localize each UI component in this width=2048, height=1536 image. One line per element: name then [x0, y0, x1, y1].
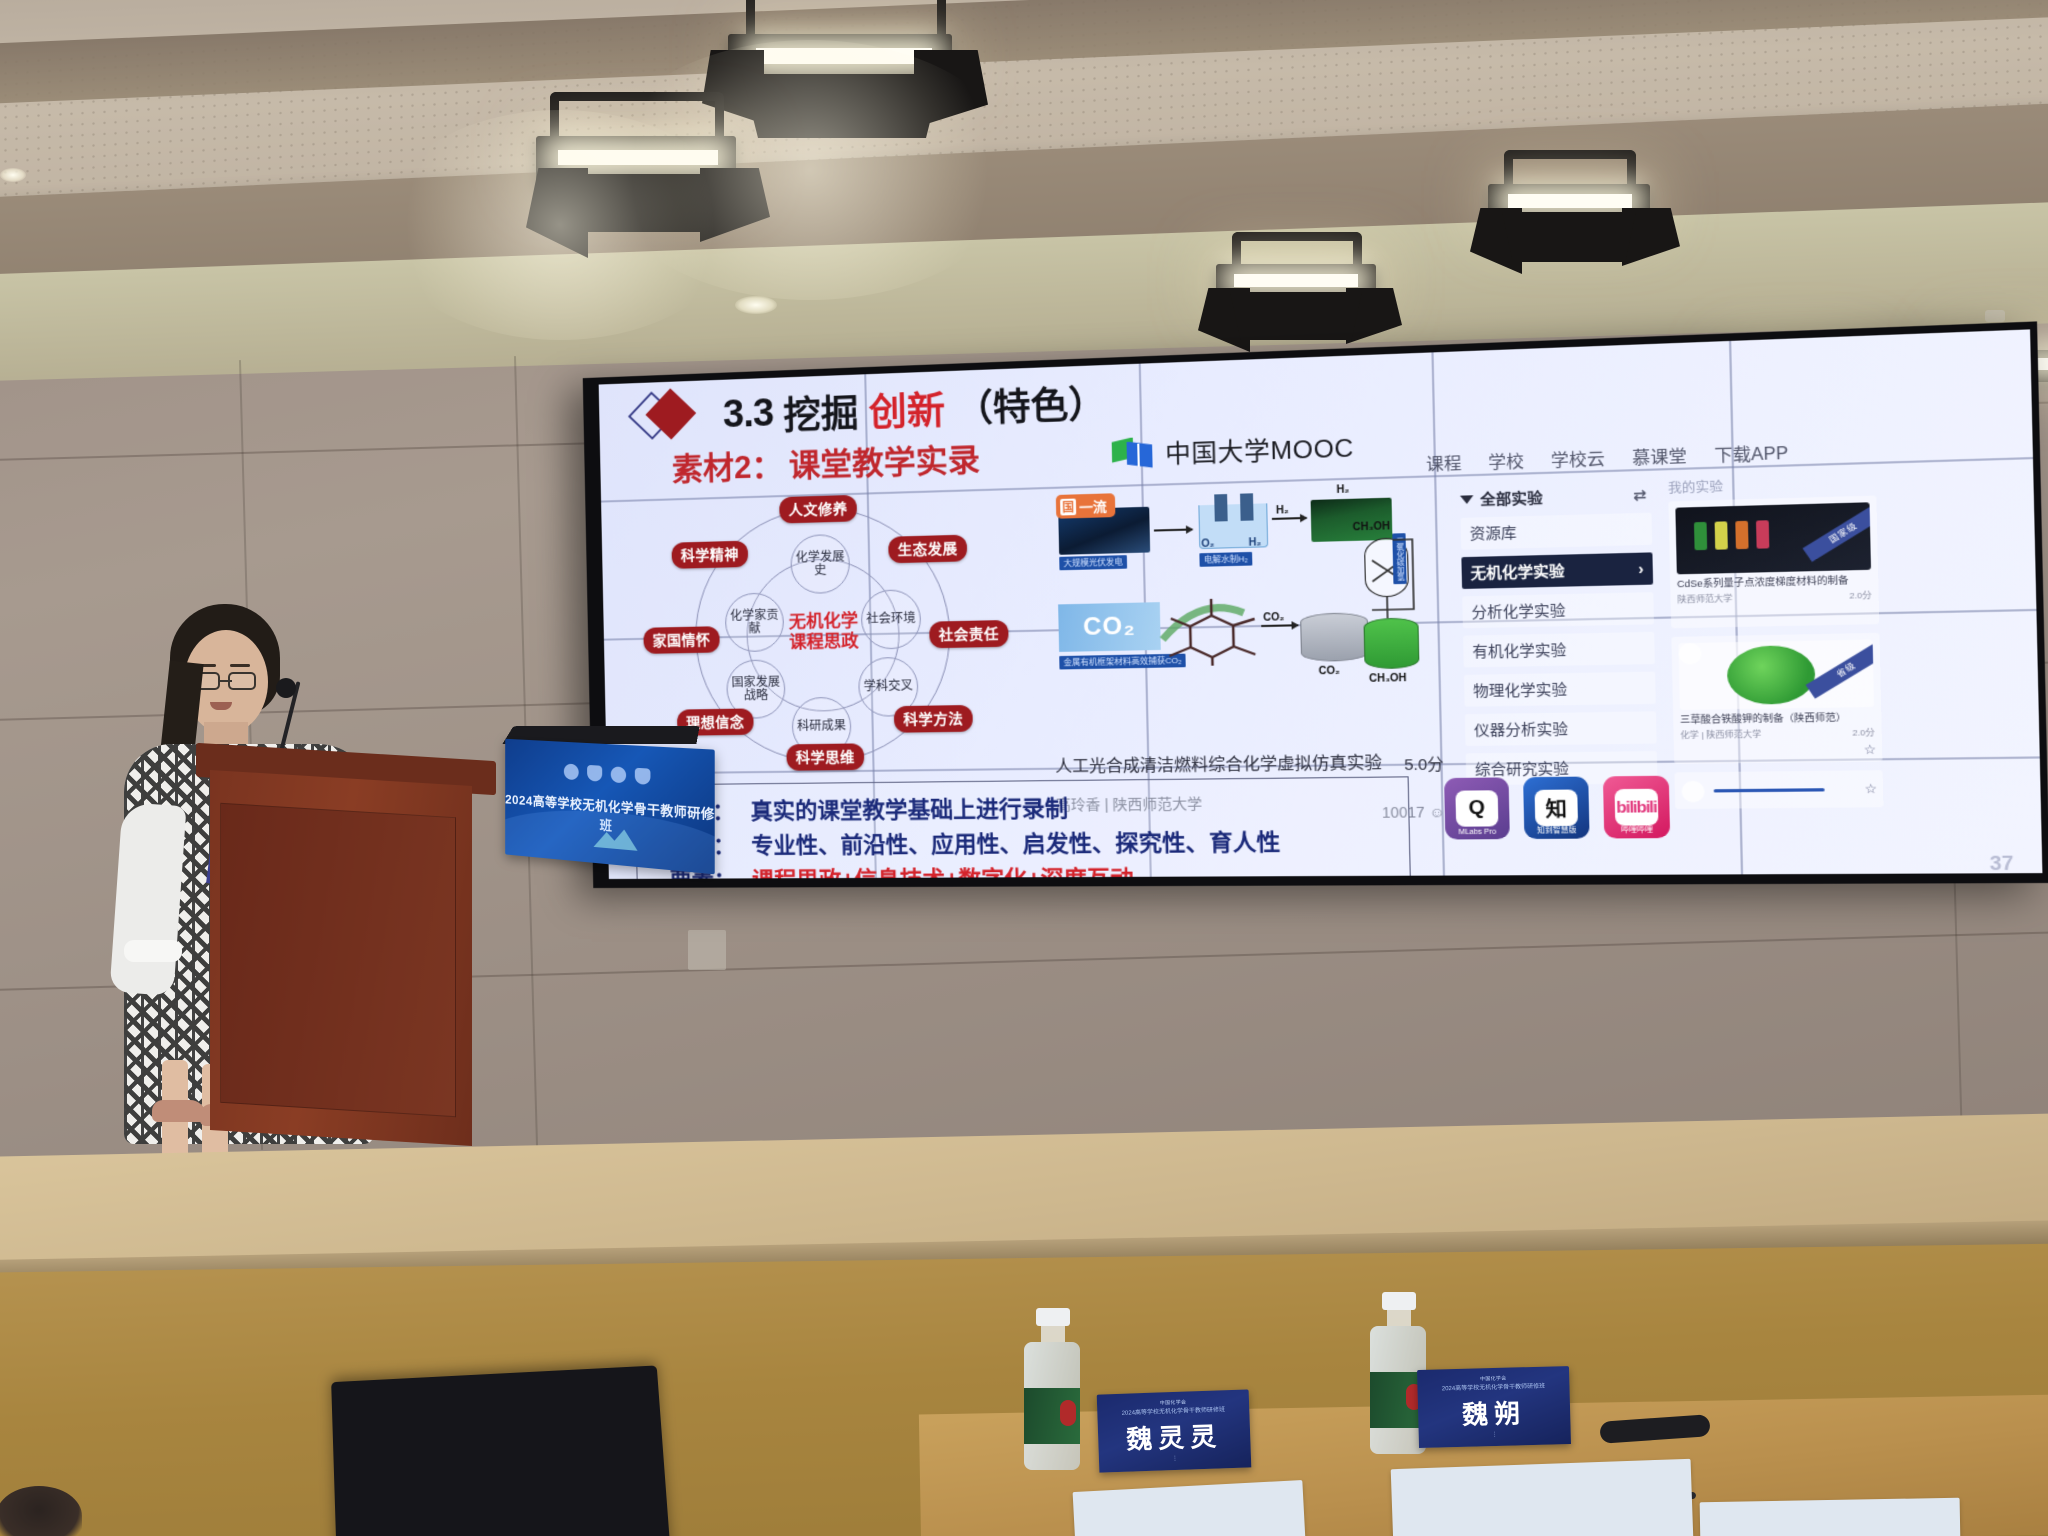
app-label: 哔哩哔哩 — [1604, 824, 1670, 835]
bottle-neck — [1041, 1326, 1065, 1342]
slide-subtitle-row: 素材2： 课堂教学实录 — [671, 434, 980, 490]
downlight — [735, 296, 777, 314]
bottle-cap — [1382, 1292, 1416, 1310]
podium-panel — [220, 803, 456, 1117]
bottle-cap — [1036, 1308, 1070, 1326]
sidebar-item-organic-chemistry[interactable]: 有机化学实验 — [1463, 632, 1655, 668]
mooc-nav-classroom[interactable]: 慕课堂 — [1632, 442, 1687, 469]
bottle-body — [1024, 1342, 1080, 1470]
flow-arrow — [1154, 528, 1192, 531]
card-thumbnail: 省级 — [1678, 640, 1874, 710]
label-o2: O₂ — [1201, 538, 1214, 550]
chevron-down-icon — [1460, 495, 1474, 504]
card-column-header: 我的实验 — [1668, 473, 1876, 497]
experiment-card[interactable]: 省级 三草酸合铁酸钾的制备（陕西师范） 化学 | 陕西师范大学 2.0分 ☆ — [1671, 633, 1882, 764]
mooc-nav-schools[interactable]: 学校 — [1488, 447, 1524, 474]
podium: 2024高等学校无机化学骨干教师研修班 — [196, 752, 496, 1152]
bullet-row: • 实录： 真实的课堂教学基础上进行录制 — [646, 787, 1398, 827]
sidebar-item-instrumental-analysis[interactable]: 仪器分析实验 — [1465, 711, 1657, 746]
app-icon-bilibili[interactable]: bilibili 哔哩哔哩 — [1603, 776, 1670, 839]
subtitle-label: 素材2： — [671, 440, 783, 489]
experiment-card[interactable]: ☆ — [1674, 770, 1883, 809]
experiment-sidebar-header-label: 全部实验 — [1480, 487, 1543, 510]
nameplate-name: 魏灵灵 — [1098, 1415, 1251, 1457]
experiment-card-column[interactable]: 我的实验 国家级 CdSe系列量子点浓度梯度材料的制备 — [1668, 473, 1884, 809]
favorite-star-icon[interactable]: ☆ — [1864, 781, 1877, 796]
pipe-lines — [1307, 512, 1420, 673]
slide-title-black: 挖掘 — [783, 383, 860, 441]
sidebar-item-resource-library[interactable]: 资源库 — [1461, 513, 1653, 550]
wall-plate — [688, 930, 726, 970]
magnifier-icon: Q — [1455, 790, 1498, 826]
app-icon-zhidao[interactable]: 知 知到智慧版 — [1523, 777, 1590, 839]
app-icon-mlabs-pro[interactable]: Q MLabs Pro — [1444, 777, 1510, 839]
label-h2: H₂ — [1249, 537, 1262, 549]
slide-title-tail: （特色） — [955, 374, 1107, 433]
video-wall[interactable]: 3.3 挖掘 创新 （特色） 素材2： 课堂教学实录 中国大学MOOC 课程 学… — [583, 321, 2048, 888]
outer-pill-method: 科学方法 — [894, 705, 973, 733]
paper-sheet — [1700, 1498, 1961, 1536]
bullet-row: • 要素： 课程思政+信息技术+数字化+深度互动 — [647, 859, 1399, 879]
light-glow — [380, 110, 740, 340]
sort-icon[interactable]: ⇄ — [1633, 486, 1647, 505]
card-title: CdSe系列量子点浓度梯度材料的制备 — [1677, 574, 1871, 590]
mooc-nav-courses[interactable]: 课程 — [1426, 449, 1462, 476]
chemistry-process-diagram: 国 一流 大规模光伏发电 O₂ H₂ 电解水制H₂ H₂ H₂ CO₂ — [1049, 482, 1410, 751]
bottle-label — [1024, 1388, 1080, 1444]
sleeve-cuff — [124, 940, 182, 962]
downlight — [0, 168, 26, 182]
experiment-card[interactable]: 国家级 CdSe系列量子点浓度梯度材料的制备 陕西师范大学 2.0分 — [1668, 496, 1879, 629]
bilibili-glyph-icon: bilibili — [1615, 789, 1659, 826]
nameplate: 中国化学会 2024高等学校无机化学骨干教师研修班 魏朔 ⋮ — [1417, 1366, 1571, 1448]
mof-molecule-icon — [1155, 589, 1275, 669]
school-logo-icon — [1681, 781, 1704, 803]
bullet-text: 专业性、前沿性、应用性、启发性、探究性、育人性 — [751, 824, 1281, 860]
mooc-brand-bar: 中国大学MOOC — [1112, 427, 1355, 471]
zhidao-glyph-icon: 知 — [1535, 789, 1579, 826]
presentation-slide: 3.3 挖掘 创新 （特色） 素材2： 课堂教学实录 中国大学MOOC 课程 学… — [599, 329, 2043, 879]
course-title: 人工光合成清洁燃料综合化学虚拟仿真实验 — [1055, 753, 1444, 778]
water-bottle[interactable] — [1024, 1308, 1082, 1470]
bottle-neck — [1387, 1310, 1411, 1326]
mooc-logo-icon — [1112, 436, 1155, 469]
sidebar-item-analytical-chemistry[interactable]: 分析化学实验 — [1462, 592, 1654, 628]
microphone-head — [276, 678, 296, 698]
card-ribbon: 省级 — [1806, 641, 1875, 699]
co2-image: CO₂ — [1058, 602, 1161, 652]
experiment-category-sidebar[interactable]: 全部实验 ⇄ 资源库 无机化学实验 › 分析化学实验 有机化学实验 物理化学实验… — [1460, 484, 1658, 786]
app-label: 知到智慧版 — [1524, 825, 1589, 836]
flow-arrow — [1272, 517, 1307, 520]
summary-bullets: • 实录： 真实的课堂教学基础上进行录制 • 教学： 专业性、前沿性、应用性、启… — [635, 776, 1412, 879]
card-meta: 陕西师范大学 2.0分 — [1677, 589, 1871, 605]
experiment-sidebar-header[interactable]: 全部实验 ⇄ — [1460, 484, 1651, 511]
organization-emblems — [505, 760, 715, 789]
caption-electrolysis: 电解水制H₂ — [1199, 552, 1252, 567]
bullet-row: • 教学： 专业性、前沿性、应用性、启发性、探究性、育人性 — [647, 823, 1399, 861]
favorite-star-icon[interactable]: ☆ — [1863, 742, 1876, 757]
foreground-laptop[interactable] — [331, 1365, 671, 1536]
ceiling-sensor — [1985, 310, 2005, 322]
bullet-text: 课程思政+信息技术+数字化+深度互动 — [752, 860, 1134, 879]
app-label: MLabs Pro — [1445, 828, 1510, 836]
subtitle-text: 课堂教学实录 — [788, 434, 980, 486]
outer-pill-patriotism: 家国情怀 — [643, 626, 719, 654]
nameplate: 中国化学会 2024高等学校无机化学骨干教师研修班 魏灵灵 ⋮ — [1097, 1389, 1252, 1472]
outer-pill-responsibility: 社会责任 — [929, 620, 1009, 648]
label-ch3oh: CH₃OH — [1369, 673, 1407, 685]
slide-title-red: 创新 — [868, 379, 945, 437]
arm — [109, 802, 186, 996]
outer-pill-thinking: 科学思维 — [786, 743, 864, 770]
paper-sheet — [1391, 1459, 1694, 1536]
lecture-hall-scene: 3.3 挖掘 创新 （特色） 素材2： 课堂教学实录 中国大学MOOC 课程 学… — [0, 0, 2048, 1536]
slide-title-row: 3.3 挖掘 创新 （特色） — [629, 373, 1107, 445]
outer-pill-humanities: 人文修养 — [779, 495, 857, 524]
mooc-nav-downloadapp[interactable]: 下载APP — [1714, 438, 1788, 466]
person-icon: ☺ — [1429, 803, 1445, 820]
caption-solar: 大规模光伏发电 — [1059, 555, 1127, 570]
mooc-brand-name: 中国大学MOOC — [1165, 427, 1355, 470]
card-title: 三草酸合铁酸钾的制备（陕西师范） — [1680, 711, 1875, 725]
slide-section-number: 3.3 — [722, 392, 773, 437]
national-first-class-badge: 国 一流 — [1056, 493, 1116, 519]
arrow-label-h2: H₂ — [1276, 505, 1289, 517]
label-h2-top: H₂ — [1336, 484, 1349, 496]
slide-page-number: 37 — [1989, 852, 2013, 875]
outer-pill-spirit: 科学精神 — [671, 541, 748, 569]
arrow-label-co2: CO₂ — [1263, 612, 1284, 624]
platform-app-icons[interactable]: Q MLabs Pro 知 知到智慧版 bilibili 哔哩哔哩 — [1444, 776, 1670, 840]
podium-banner: 2024高等学校无机化学骨干教师研修班 — [505, 739, 715, 875]
mooc-nav-schoolcloud[interactable]: 学校云 — [1551, 444, 1606, 471]
bullet-dot: • — [647, 873, 654, 879]
course-score: 5.0分 — [1404, 753, 1444, 776]
sidebar-item-inorganic-chemistry[interactable]: 无机化学实验 › — [1461, 552, 1653, 589]
bullet-text: 真实的课堂教学基础上进行录制 — [750, 790, 1068, 826]
card-thumbnail: 国家级 — [1675, 502, 1871, 574]
sidebar-item-physical-chemistry[interactable]: 物理化学实验 — [1464, 672, 1656, 707]
outer-pill-ecology: 生态发展 — [888, 535, 967, 564]
diamond-icon — [629, 393, 702, 442]
card-ribbon: 国家级 — [1803, 504, 1872, 562]
nameplate-name: 魏朔 — [1418, 1392, 1571, 1433]
chevron-right-icon: › — [1638, 560, 1644, 577]
progress-bar — [1714, 788, 1825, 792]
flow-arrow — [1261, 624, 1298, 626]
card-meta: 化学 | 陕西师范大学 2.0分 — [1680, 726, 1875, 740]
